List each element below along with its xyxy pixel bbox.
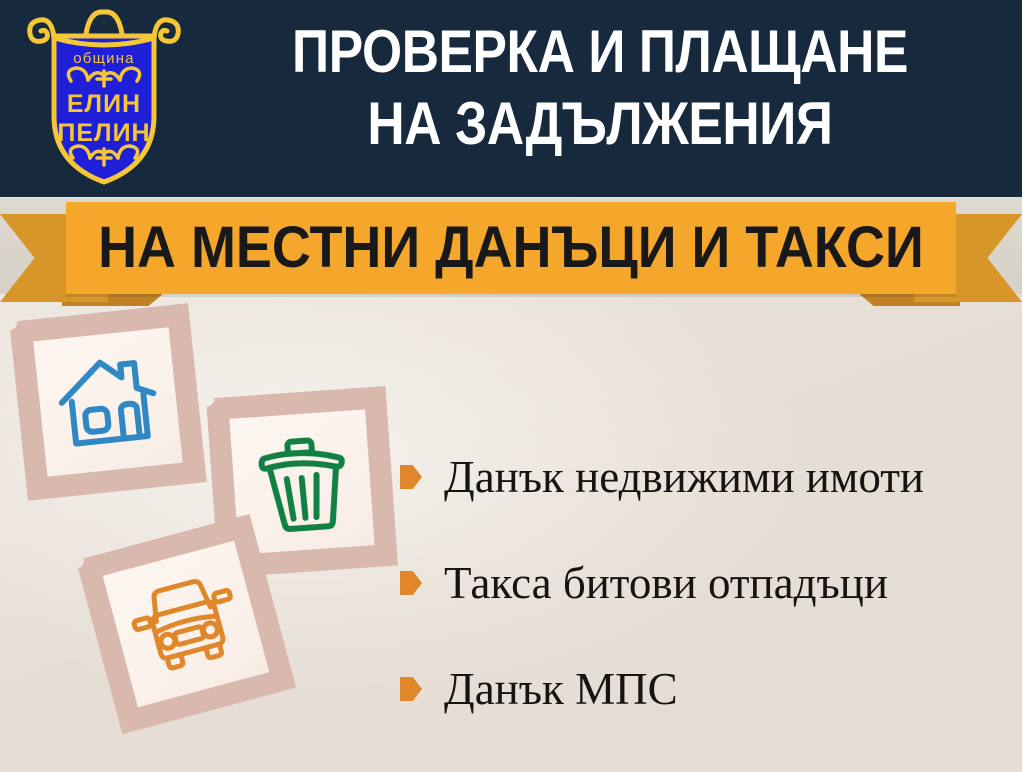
page-title-line-1: ПРОВЕРКА И ПЛАЩАНЕ — [292, 18, 908, 85]
service-item-property-tax[interactable]: Данък недвижими имоти — [400, 424, 1000, 530]
ribbon-label: НА МЕСТНИ ДАНЪЦИ И ТАКСИ — [98, 219, 924, 277]
service-item-waste-fee[interactable]: Такса битови отпадъци — [400, 530, 1000, 636]
service-label: Данък недвижими имоти — [444, 453, 924, 501]
arrow-bullet-icon — [400, 465, 422, 489]
car-front-icon — [122, 568, 249, 681]
stamp-card-property — [9, 303, 207, 501]
service-label: Такса битови отпадъци — [444, 559, 888, 607]
crest-word-top: община — [73, 50, 134, 67]
poster-root: община ЕЛИН ПЕЛИН — [0, 0, 1022, 772]
house-icon — [51, 349, 164, 455]
service-label: Данък МПС — [444, 665, 678, 713]
subtitle-ribbon: НА МЕСТНИ ДАНЪЦИ И ТАКСИ — [0, 196, 1022, 311]
page-title-line-2: НА ЗАДЪЛЖЕНИЯ — [247, 88, 952, 160]
arrow-bullet-icon — [400, 677, 422, 701]
services-list: Данък недвижими имоти Такса битови отпад… — [400, 424, 1000, 742]
coat-of-arms-logo: община ЕЛИН ПЕЛИН — [24, 8, 184, 188]
header-bar: община ЕЛИН ПЕЛИН — [0, 0, 1022, 197]
trash-bin-icon — [253, 429, 352, 535]
ribbon-center-panel: НА МЕСТНИ ДАНЪЦИ И ТАКСИ — [66, 202, 956, 294]
stamp-photo — [33, 327, 182, 476]
service-item-vehicle-tax[interactable]: Данък МПС — [400, 636, 1000, 742]
crest-word-main-line2: ПЕЛИН — [57, 119, 150, 147]
crest-word-main-line1: ЕЛИН — [67, 90, 141, 118]
arrow-bullet-icon — [400, 571, 422, 595]
page-title: ПРОВЕРКА И ПЛАЩАНЕ НА ЗАДЪЛЖЕНИЯ — [247, 16, 952, 160]
